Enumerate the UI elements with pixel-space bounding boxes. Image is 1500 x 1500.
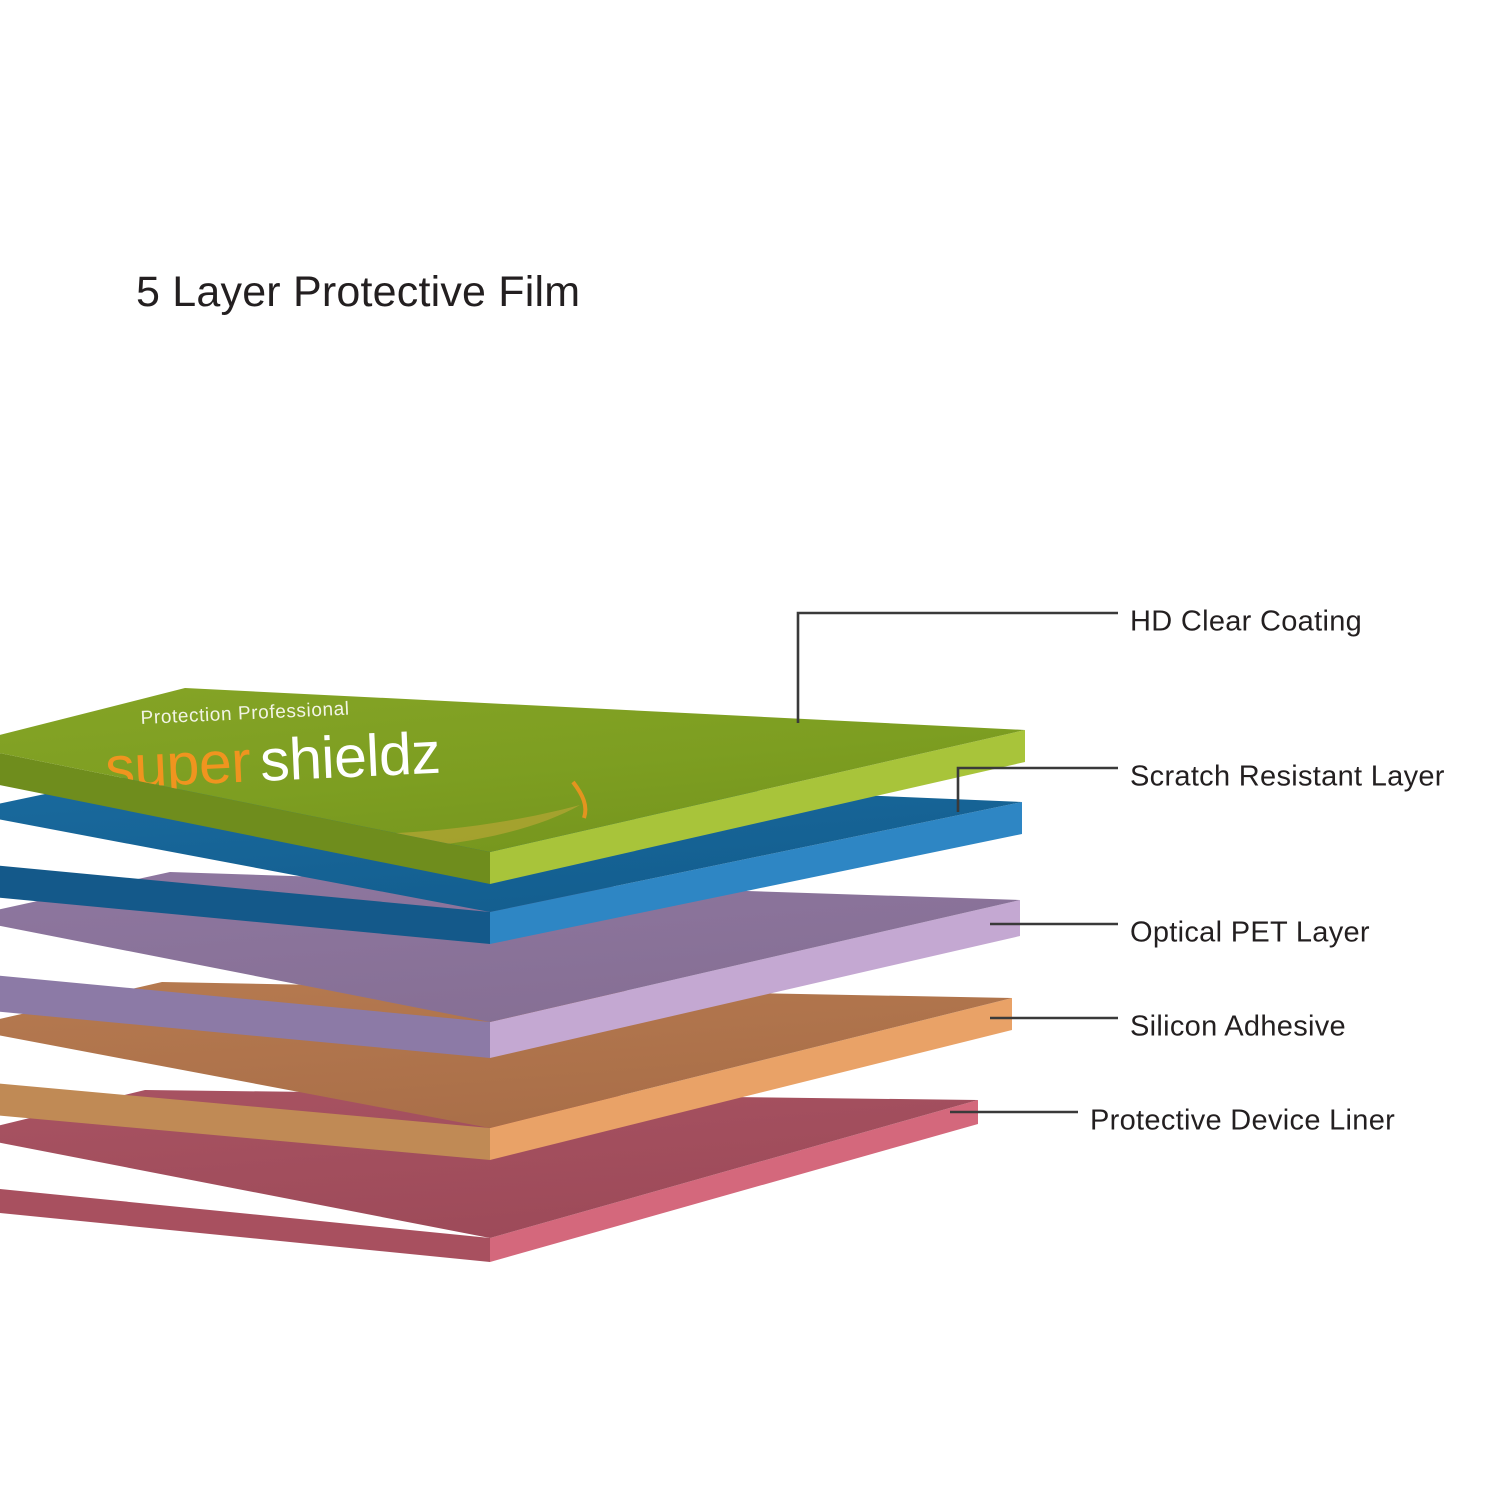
label-scratch-resistant: Scratch Resistant Layer [1130,761,1445,793]
label-protective-device-liner: Protective Device Liner [1090,1105,1395,1137]
label-optical-pet: Optical PET Layer [1130,917,1370,949]
layer-labels: HD Clear Coating Scratch Resistant Layer… [1090,606,1445,1137]
diagram-canvas: 5 Layer Protective Film [0,0,1500,1500]
logo-name-shieldz: shieldz [259,720,442,794]
label-hd-clear-coating: HD Clear Coating [1130,606,1362,638]
layer-stack-diagram: Protection Professional super shieldz HD… [0,0,1500,1500]
leader-line-hd-clear-coating [798,613,1118,723]
label-silicon-adhesive: Silicon Adhesive [1130,1011,1346,1043]
